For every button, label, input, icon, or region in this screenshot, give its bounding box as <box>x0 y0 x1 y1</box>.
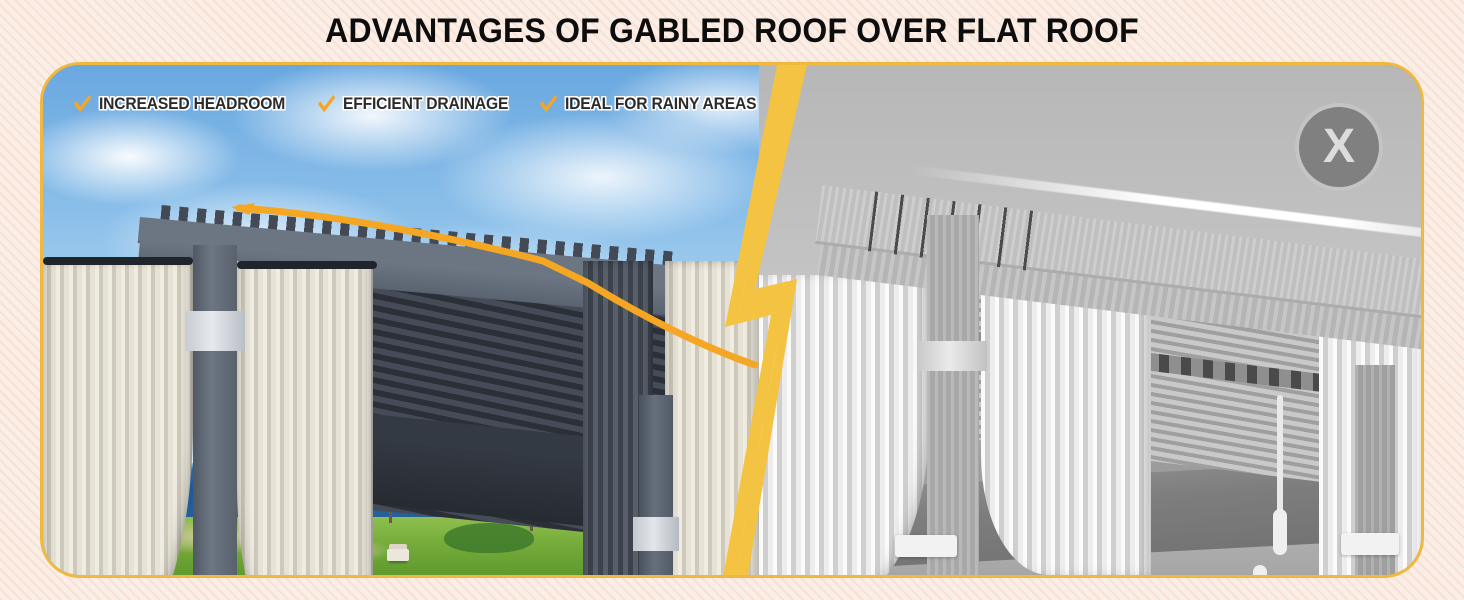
curtain-tieback <box>1341 533 1399 555</box>
curtain-panel <box>43 261 193 575</box>
feature-label: INCREASED HEADROOM <box>99 94 285 114</box>
curtain-panel <box>665 261 759 575</box>
feature-item-headroom: INCREASED HEADROOM <box>71 93 301 115</box>
curtain-crank-handle <box>1253 565 1267 575</box>
gabled-pergola-structure <box>43 65 759 575</box>
gabled-roof-panel: INCREASED HEADROOM EFFICIENT DRAINAGE ID… <box>43 65 759 575</box>
feature-item-rainy-areas: IDEAL FOR RAINY AREAS <box>537 93 759 115</box>
orange-check-icon <box>537 93 559 115</box>
curtain-crank-grip <box>1273 509 1287 555</box>
curtain-crank-rod <box>1277 395 1283 515</box>
reject-x-icon: X <box>1295 103 1383 191</box>
pergola-post <box>193 245 237 575</box>
curtain-rod <box>237 261 377 269</box>
curtain-panel <box>237 261 373 575</box>
curtain-panel <box>759 275 929 575</box>
post-collar-bracket <box>919 341 987 371</box>
feature-label: EFFICIENT DRAINAGE <box>343 94 508 114</box>
orange-check-icon <box>315 93 337 115</box>
comparison-panel: INCREASED HEADROOM EFFICIENT DRAINAGE ID… <box>40 62 1424 578</box>
feature-list: INCREASED HEADROOM EFFICIENT DRAINAGE ID… <box>71 93 759 115</box>
curtain-panel <box>981 275 1151 575</box>
feature-item-drainage: EFFICIENT DRAINAGE <box>315 93 523 115</box>
flat-roof-panel: X <box>759 65 1424 575</box>
page-title: ADVANTAGES OF GABLED ROOF OVER FLAT ROOF <box>44 12 1420 51</box>
post-collar-bracket <box>633 517 679 551</box>
orange-check-icon <box>71 93 93 115</box>
post-collar-bracket <box>185 311 245 351</box>
reject-x-glyph: X <box>1323 123 1355 171</box>
pergola-post <box>927 215 979 575</box>
curtain-rod <box>43 257 193 265</box>
feature-label: IDEAL FOR RAINY AREAS <box>565 94 756 114</box>
curtain-tieback <box>895 535 957 557</box>
